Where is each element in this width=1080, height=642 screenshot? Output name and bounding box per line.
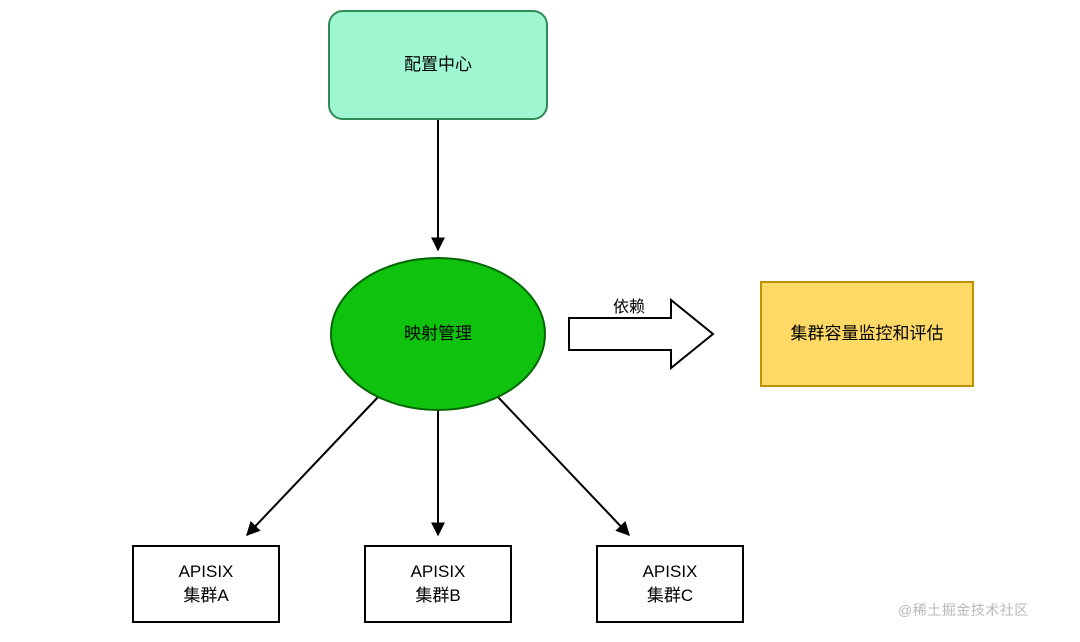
diagram-shapes-layer — [0, 0, 1080, 642]
node-capacity-monitoring[interactable] — [761, 282, 973, 386]
node-apisix-cluster-b[interactable] — [365, 546, 511, 622]
node-apisix-cluster-a[interactable] — [133, 546, 279, 622]
edge-mapping-to-c — [497, 396, 629, 535]
node-apisix-cluster-c[interactable] — [597, 546, 743, 622]
watermark: @稀土掘金技术社区 — [898, 600, 1029, 620]
edge-label-dependency: 依赖 — [589, 298, 669, 318]
diagram-canvas: 配置中心 映射管理 集群容量监控和评估 APISIX 集群A APISIX 集群… — [0, 0, 1080, 642]
edge-mapping-to-a — [247, 396, 379, 535]
node-config-center[interactable] — [329, 11, 547, 119]
node-mapping-management[interactable] — [331, 258, 545, 410]
